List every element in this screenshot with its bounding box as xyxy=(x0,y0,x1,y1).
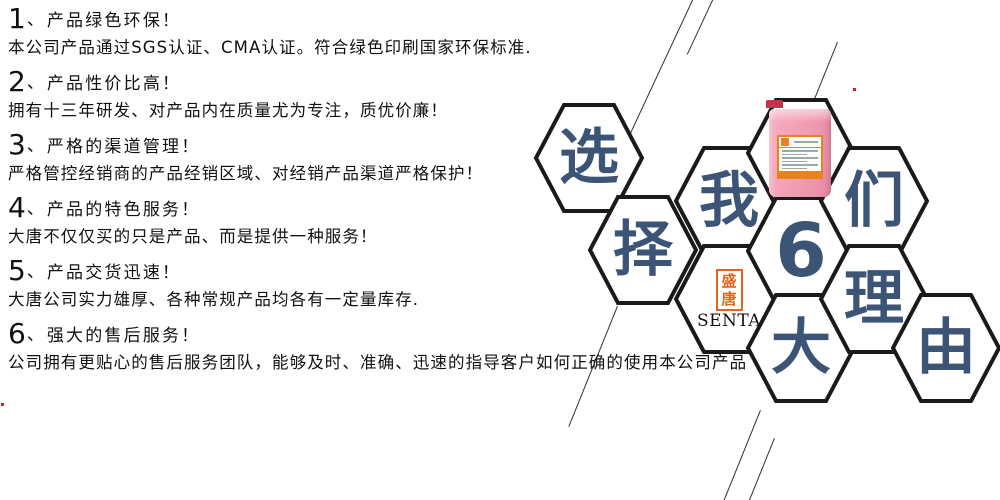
reason-title: 产品的特色服务！ xyxy=(47,202,201,219)
reason-number: 5 xyxy=(8,257,26,285)
label-line xyxy=(782,150,818,152)
reason-item: 1 、 产品绿色环保！ 本公司产品通过SGS认证、CMA认证。符合绿色印刷国家环… xyxy=(8,4,708,58)
reason-title: 产品交货迅速！ xyxy=(47,265,181,282)
label-swatch xyxy=(781,138,789,146)
reason-number: 6 xyxy=(8,320,26,348)
hex-label: 我 xyxy=(699,171,759,231)
bottle-highlight xyxy=(769,109,831,122)
seal-char-bottom: 唐 xyxy=(721,290,736,308)
hex-label: 择 xyxy=(613,220,673,280)
hex-label: 大 xyxy=(771,318,831,378)
label-line xyxy=(794,141,818,143)
reason-separator: 、 xyxy=(27,75,44,92)
bottle-body-icon xyxy=(769,109,831,197)
decorative-speck xyxy=(853,88,856,91)
reason-separator: 、 xyxy=(27,201,44,218)
reason-body: 公司拥有更贴心的售后服务团队，能够及时、准确、迅速的指导客户如何正确的使用本公司… xyxy=(8,354,708,373)
label-header xyxy=(779,137,821,148)
reason-title: 严格的渠道管理！ xyxy=(47,139,201,156)
label-footer-bar xyxy=(779,171,821,177)
seal-icon: 盛 唐 xyxy=(716,269,743,311)
reason-item: 6 、 强大的售后服务！ 公司拥有更贴心的售后服务团队，能够及时、准确、迅速的指… xyxy=(8,319,708,373)
reason-separator: 、 xyxy=(27,264,44,281)
reason-title: 强大的售后服务！ xyxy=(47,328,201,345)
reason-body: 本公司产品通过SGS认证、CMA认证。符合绿色印刷国家环保标准. xyxy=(8,39,708,58)
reason-heading: 1 、 产品绿色环保！ xyxy=(8,4,708,32)
product-image xyxy=(764,105,838,201)
bottle-cap-icon xyxy=(766,100,783,108)
hex-label: 6 xyxy=(775,214,827,288)
reason-separator: 、 xyxy=(27,138,44,155)
reason-separator: 、 xyxy=(27,327,44,344)
reason-title: 产品性价比高！ xyxy=(47,76,181,93)
hex-label: 选 xyxy=(559,128,619,188)
label-line xyxy=(782,154,807,156)
hex-label: 们 xyxy=(844,171,904,231)
promo-banner: 1 、 产品绿色环保！ 本公司产品通过SGS认证、CMA认证。符合绿色印刷国家环… xyxy=(0,0,1000,500)
brand-logo: 盛 唐 SENTA xyxy=(697,269,761,330)
label-line xyxy=(782,157,818,159)
label-line xyxy=(782,168,807,170)
seal-char-top: 盛 xyxy=(721,272,736,290)
reason-heading: 2 、 产品性价比高！ xyxy=(8,67,708,95)
hex-cell-you[interactable]: 由 xyxy=(888,290,1000,406)
reason-heading: 6 、 强大的售后服务！ xyxy=(8,319,708,347)
reason-title: 产品绿色环保！ xyxy=(47,13,181,30)
bottle-label xyxy=(777,135,823,179)
reason-number: 2 xyxy=(8,68,26,96)
brand-wordmark: SENTA xyxy=(697,313,761,330)
decorative-diagonal-line xyxy=(748,438,775,500)
hex-label: 由 xyxy=(916,318,976,378)
hex-label: 理 xyxy=(844,269,904,329)
label-line xyxy=(782,161,807,163)
decorative-speck xyxy=(1,403,4,406)
reason-separator: 、 xyxy=(27,12,44,29)
label-line xyxy=(782,164,818,166)
reason-number: 3 xyxy=(8,131,26,159)
reason-number: 1 xyxy=(8,5,26,33)
reason-number: 4 xyxy=(8,194,26,222)
